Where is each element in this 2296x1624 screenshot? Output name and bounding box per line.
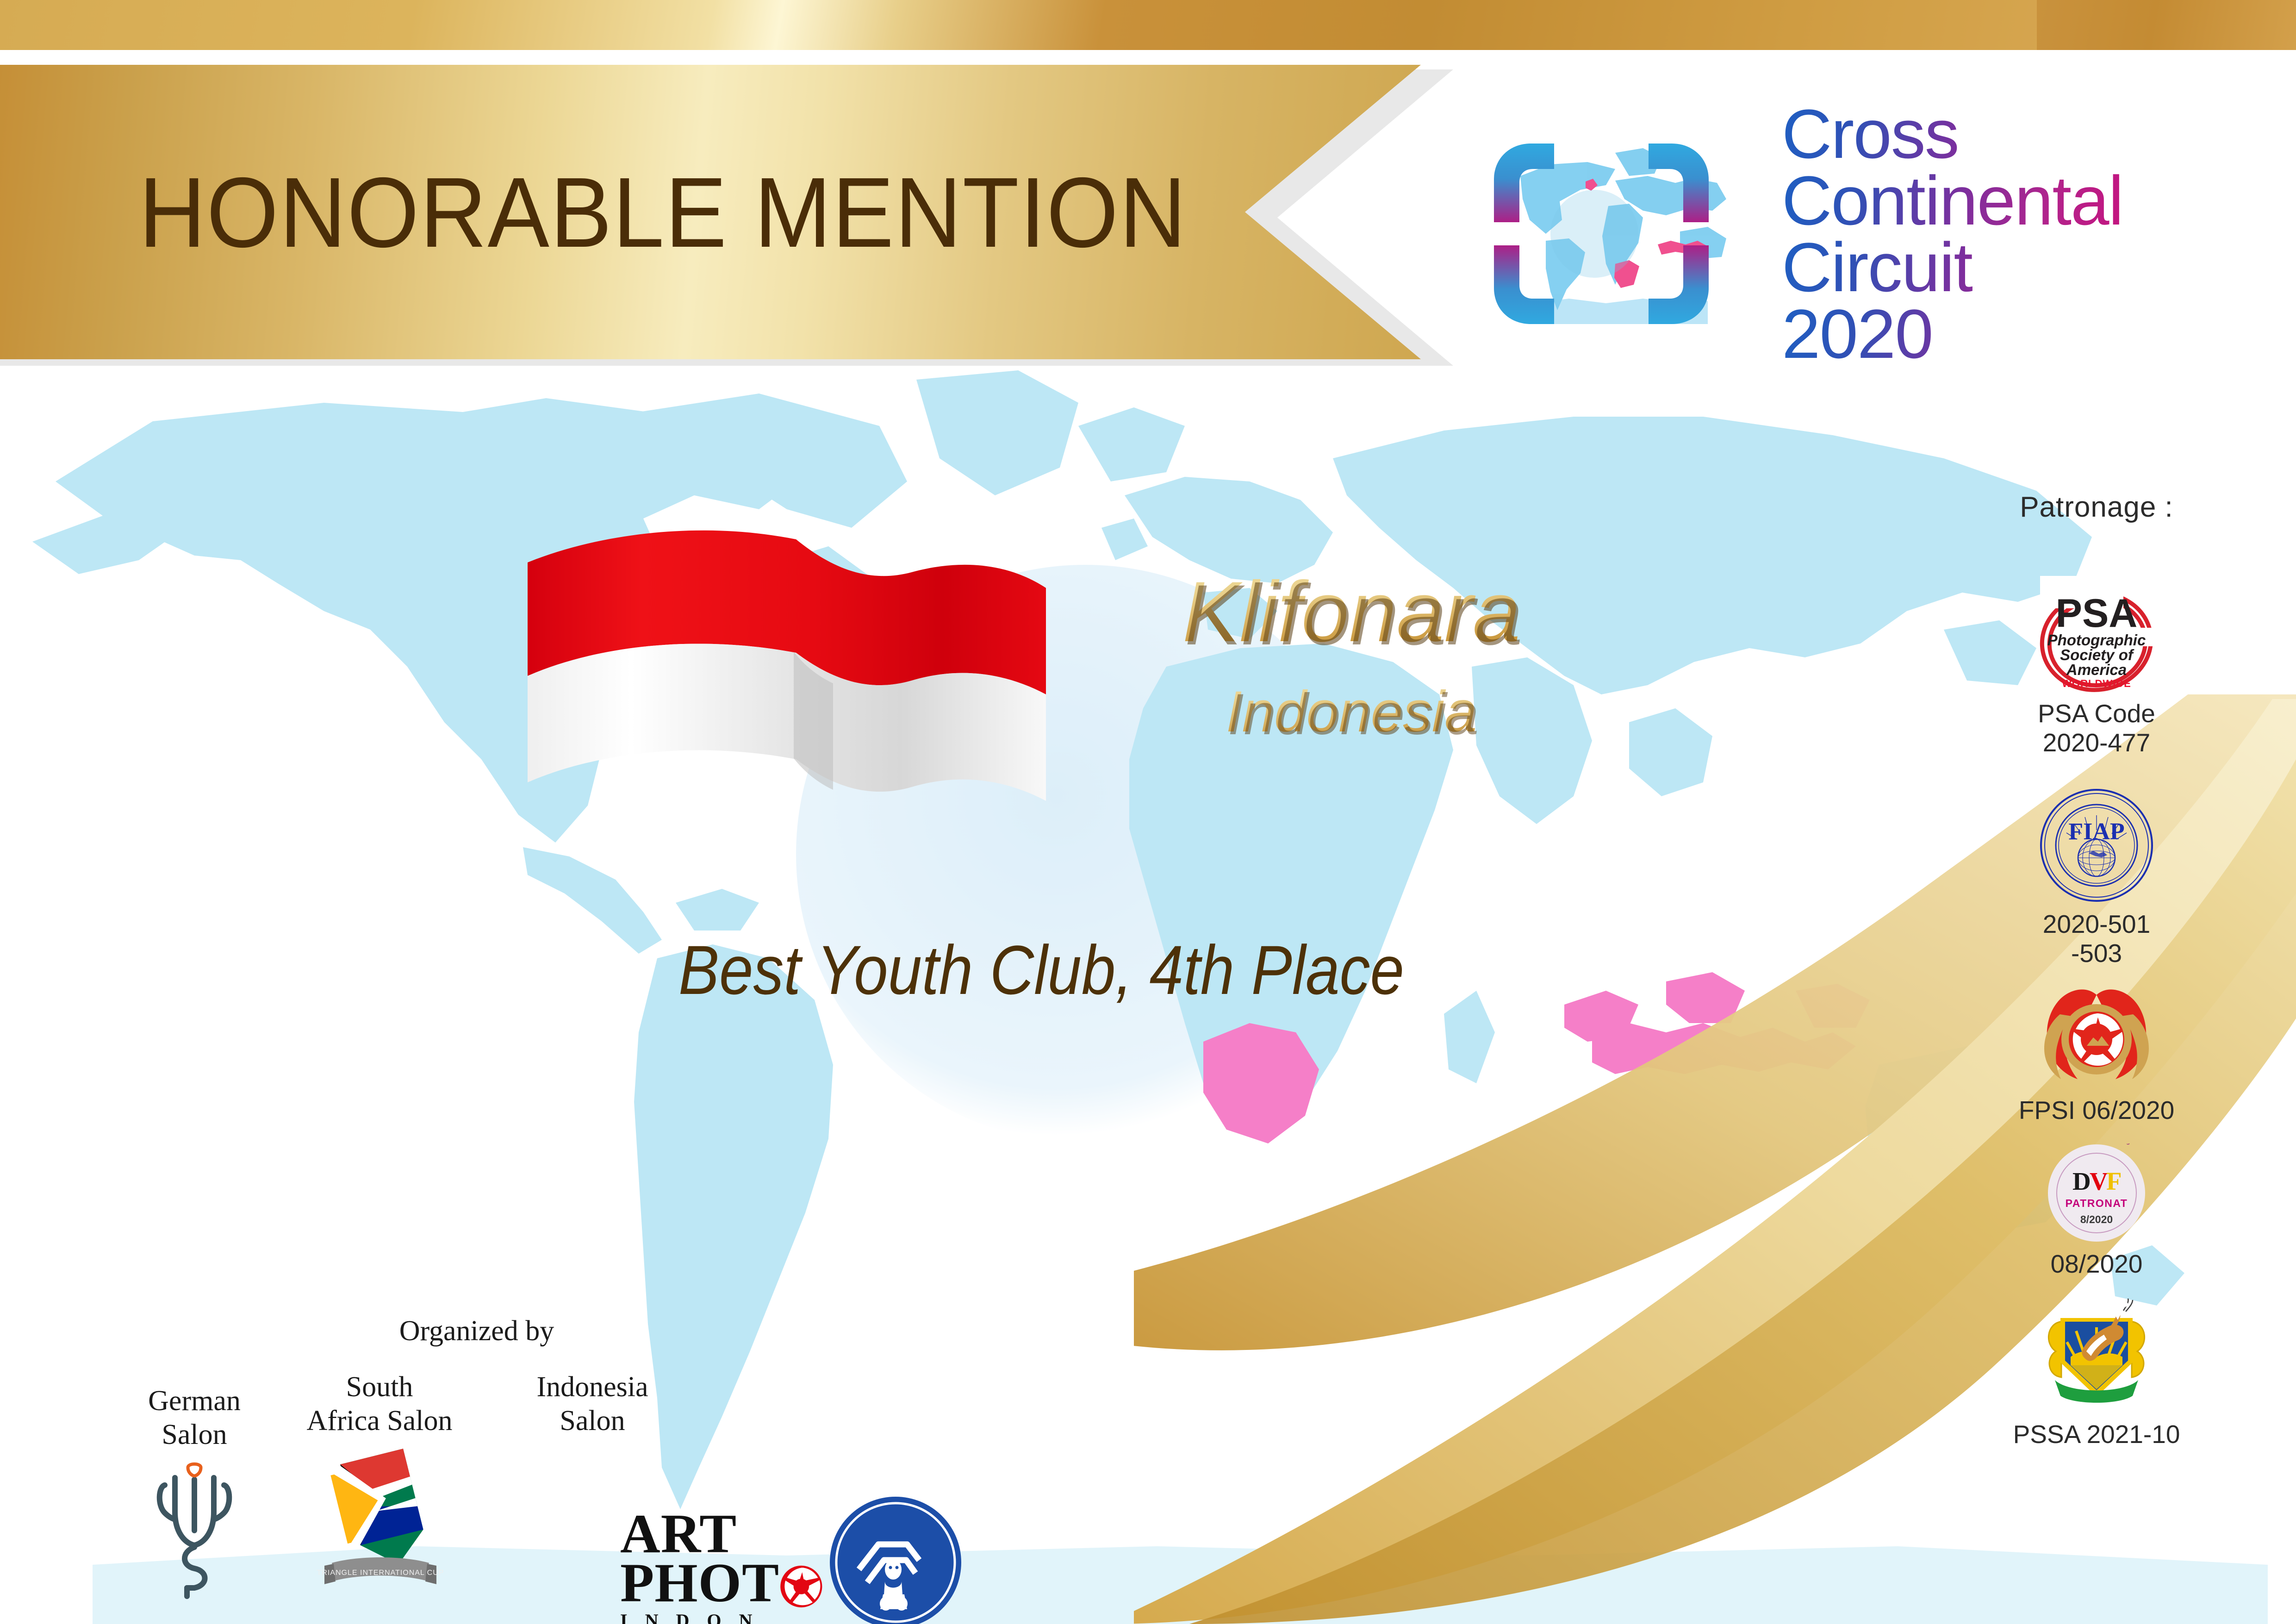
organizer-indonesia-salon: Indonesia Salon bbox=[486, 1370, 699, 1447]
svg-text:V: V bbox=[2090, 1167, 2108, 1195]
certificate-page: HONORABLE MENTION bbox=[0, 0, 2296, 1624]
svg-text:· JAKARTA ·: · JAKARTA · bbox=[828, 1495, 904, 1498]
organizers-section: German Salon South Afr bbox=[102, 1356, 981, 1597]
patronage-item-fiap: FEDERATION INTERNATIONALE DE L'ART PHOTO… bbox=[1958, 787, 2235, 968]
indonesia-flag bbox=[509, 528, 1064, 824]
logo-line-2: Continental bbox=[1782, 167, 2123, 234]
psa-code: PSA Code 2020-477 bbox=[2038, 699, 2155, 758]
svg-text:SCIENTIA · ARS · LUMEN: SCIENTIA · ARS · LUMEN bbox=[2039, 787, 2137, 789]
artphoto-line-3: I N D O N E S I A bbox=[620, 1612, 782, 1624]
cross-continental-circuit-logo: Cross Continental Circuit 2020 bbox=[1476, 118, 2245, 350]
logo-line-3: Circuit bbox=[1782, 234, 2123, 300]
pssa-code: PSSA 2021-10 bbox=[2013, 1420, 2180, 1449]
fpsi-logo: FEDERASI PERKUMPULAN SENI FOTO INDONESIA bbox=[2029, 987, 2164, 1089]
artphoto-wordmark: ART PHOT I N D O N E S I A bbox=[620, 1509, 782, 1624]
award-banner: HONORABLE MENTION bbox=[0, 65, 1421, 359]
patronage-item-pssa: P · S · S · A PSSA 2021-10 bbox=[1958, 1298, 2235, 1449]
svg-text:INDONESIA: INDONESIA bbox=[2029, 987, 2071, 989]
patronage-item-fpsi: FEDERASI PERKUMPULAN SENI FOTO INDONESIA… bbox=[1958, 987, 2235, 1125]
artphoto-line-1: ART bbox=[620, 1509, 782, 1558]
svg-text:Deutscher Verband für Fotograf: Deutscher Verband für Fotografie e.V. bbox=[2047, 1143, 2147, 1145]
top-gold-strip bbox=[0, 0, 2296, 50]
patronage-section: Patronage : PSA Photographic Society of … bbox=[1958, 491, 2235, 1465]
psa-logo: PSA Photographic Society of America WORL… bbox=[2027, 572, 2166, 693]
patronage-item-dvf: Deutscher Verband für Fotografie e.V. D … bbox=[1958, 1143, 2235, 1279]
logo-line-4: 2020 bbox=[1782, 300, 2123, 367]
svg-text:TRIANGLE INTERNATIONAL CUP: TRIANGLE INTERNATIONAL CUP bbox=[317, 1569, 444, 1577]
winner-country: Indonesia bbox=[1078, 683, 1624, 741]
svg-text:F: F bbox=[2106, 1167, 2122, 1195]
dvf-code: 08/2020 bbox=[2051, 1249, 2143, 1279]
organizer-label-south-africa: South Africa Salon bbox=[306, 1370, 452, 1438]
svg-text:D: D bbox=[2072, 1167, 2091, 1195]
art-photo-indonesia-logo: ART PHOT I N D O N E S I A bbox=[620, 1509, 824, 1624]
svg-text:8/2020: 8/2020 bbox=[2080, 1213, 2112, 1225]
svg-text:PATRONAT: PATRONAT bbox=[2065, 1197, 2128, 1209]
organizer-german-salon: German Salon bbox=[116, 1384, 273, 1600]
psa-acronym: PSA bbox=[2056, 591, 2138, 636]
svg-text:WORLDWIDE: WORLDWIDE bbox=[2062, 678, 2131, 689]
logo-wordmark: Cross Continental Circuit 2020 bbox=[1782, 100, 2123, 367]
fiap-code: 2020-501 -503 bbox=[2043, 910, 2150, 968]
pssa-logo: P · S · S · A bbox=[2036, 1298, 2157, 1413]
svg-text:P · S · S · A: P · S · S · A bbox=[2036, 1298, 2118, 1300]
dvf-logo: Deutscher Verband für Fotografie e.V. D … bbox=[2047, 1143, 2147, 1243]
south-africa-flag-shield-logo: TRIANGLE INTERNATIONAL CUP bbox=[303, 1447, 456, 1600]
fpsi-code: FPSI 06/2020 bbox=[2019, 1096, 2174, 1125]
organizer-label-german: German Salon bbox=[148, 1384, 241, 1452]
german-trophy-logo bbox=[148, 1461, 241, 1600]
artphoto-line-2: PHOT bbox=[620, 1558, 782, 1607]
award-title: Best Youth Club, 4th Place bbox=[492, 935, 1591, 1005]
aperture-icon bbox=[779, 1552, 824, 1621]
lembaga-fotografi-candra-naya-logo: LEMBAGA FOTOGRAFI CANDRA NAYA · JAKARTA … bbox=[828, 1495, 967, 1624]
organizer-south-africa-salon: South Africa Salon bbox=[282, 1370, 477, 1600]
patronage-heading: Patronage : bbox=[2020, 491, 2173, 524]
logo-line-1: Cross bbox=[1782, 100, 2123, 167]
gold-strip-right-segment bbox=[2037, 0, 2296, 50]
camera-frame-world-map-icon bbox=[1476, 125, 1763, 343]
patronage-item-psa: PSA Photographic Society of America WORL… bbox=[1958, 572, 2235, 758]
page-title: HONORABLE MENTION bbox=[139, 162, 1187, 262]
winner-name: Klifonara bbox=[1078, 569, 1624, 655]
organizer-label-indonesia: Indonesia Salon bbox=[536, 1370, 648, 1438]
fiap-logo: FEDERATION INTERNATIONALE DE L'ART PHOTO… bbox=[2039, 787, 2154, 903]
svg-text:America: America bbox=[2066, 661, 2127, 678]
fiap-acronym: FIAP bbox=[2068, 818, 2124, 845]
organized-by-heading: Organized by bbox=[356, 1315, 597, 1348]
